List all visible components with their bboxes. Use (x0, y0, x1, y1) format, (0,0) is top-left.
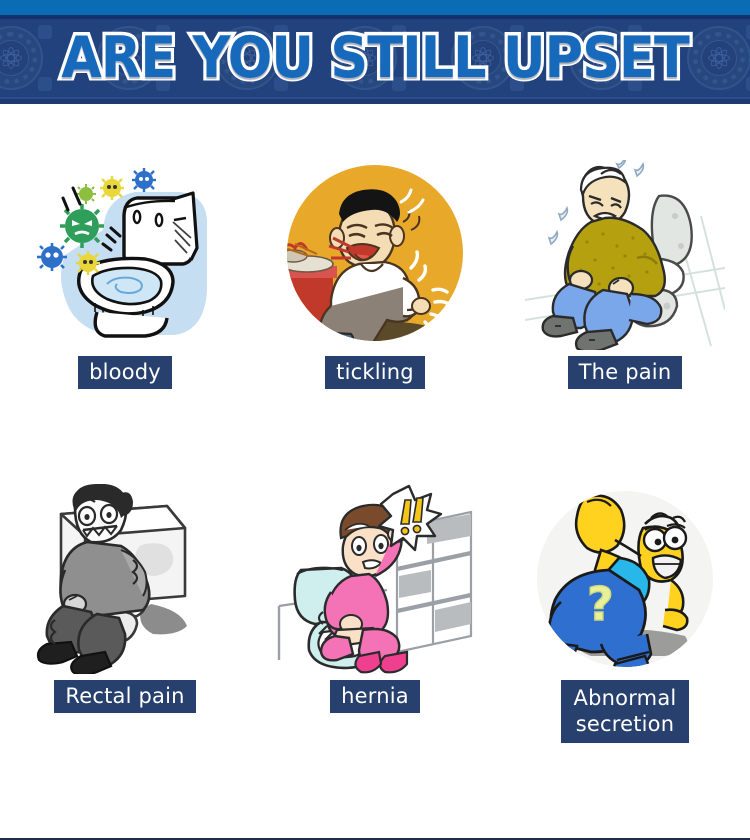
grayscale-man-on-toilet-icon (25, 484, 225, 674)
symptom-label-tickling: tickling (325, 356, 425, 389)
symptom-cell-the-pain[interactable]: The pain (500, 160, 750, 408)
banner-divider-bottom (0, 97, 750, 104)
symptom-label-rectal-pain: Rectal pain (54, 680, 195, 713)
symptom-cell-hernia[interactable]: hernia (250, 484, 500, 732)
man-eating-spicy-food-icon (275, 160, 475, 350)
man-straining-on-toilet-icon (525, 160, 725, 350)
ornament-corner-icon (746, 77, 750, 91)
ornament-corner-icon (746, 25, 750, 39)
symptom-cell-tickling[interactable]: tickling (250, 160, 500, 408)
symptom-row-1: bloody (0, 160, 750, 408)
yellow-cartoon-man-question-mark-icon: ? (525, 484, 725, 674)
symptom-label-abnormal-secretion: Abnormal secretion (561, 680, 690, 743)
woman-on-toilet-shocked-icon (275, 484, 475, 674)
svg-text:?: ? (587, 577, 614, 631)
symptom-cell-rectal-pain[interactable]: Rectal pain (0, 484, 250, 732)
symptom-row-2: Rectal pain (0, 484, 750, 732)
symptom-label-the-pain: The pain (568, 356, 683, 389)
page-banner: ARE YOU STILL UPSET (0, 0, 750, 104)
symptom-label-hernia: hernia (330, 680, 420, 713)
page-title: ARE YOU STILL UPSET (30, 19, 720, 97)
symptom-label-bloody: bloody (78, 356, 172, 389)
toilet-with-germs-icon (25, 160, 225, 350)
symptom-cell-bloody[interactable]: bloody (0, 160, 250, 408)
symptom-grid: bloody (0, 104, 750, 834)
symptom-cell-abnormal-secretion[interactable]: ? Abnormal secretion (500, 484, 750, 732)
banner-top-strip (0, 0, 750, 15)
